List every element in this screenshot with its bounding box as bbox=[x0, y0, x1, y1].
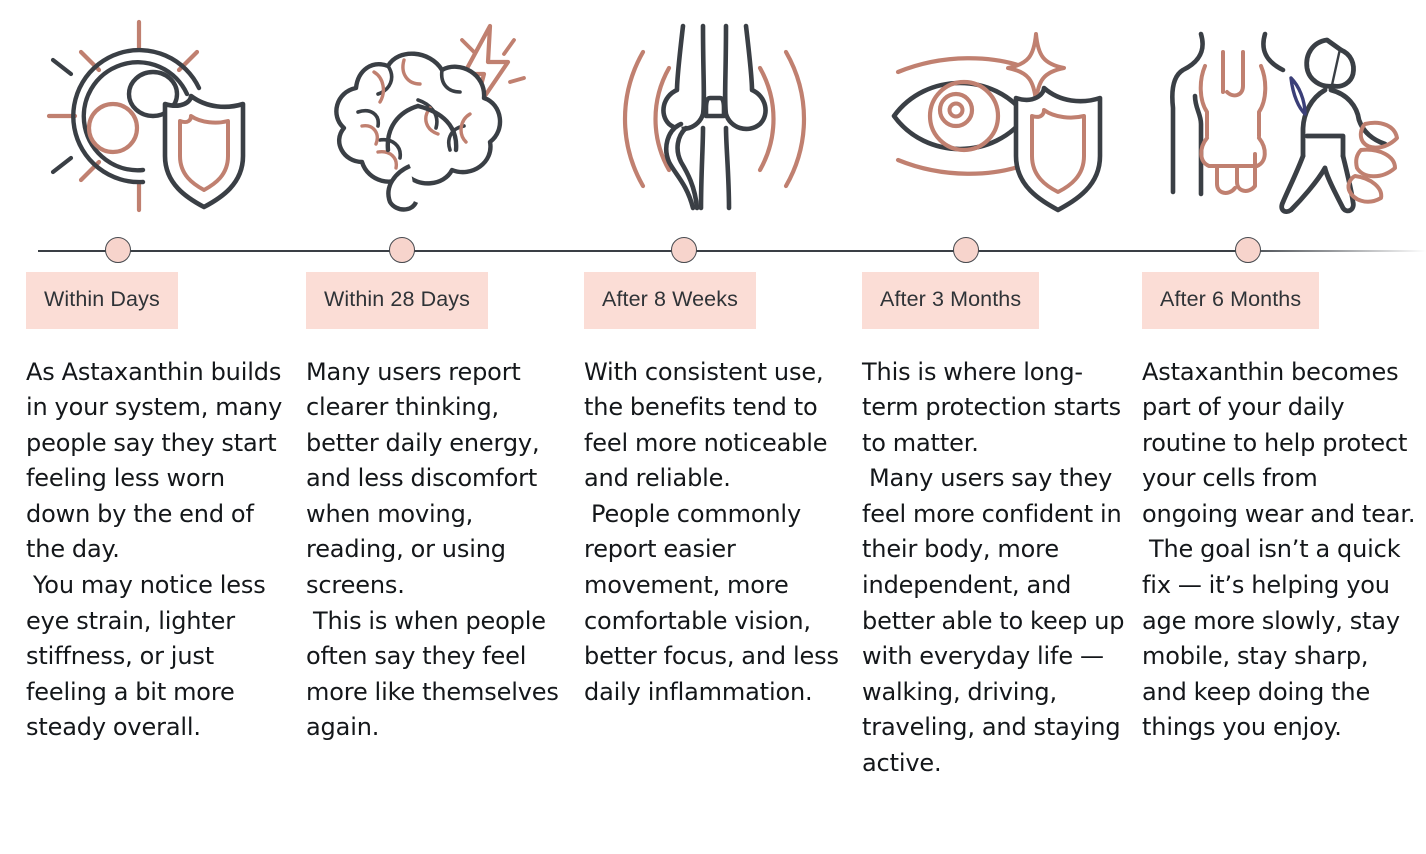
icon-cell-3 bbox=[572, 0, 856, 232]
timeline-line bbox=[38, 250, 1426, 252]
timeline-dot-5[interactable] bbox=[1235, 237, 1261, 263]
milestone-column-2: Within 28 Days Many users report clearer… bbox=[284, 272, 568, 854]
milestone-chip-2: Within 28 Days bbox=[306, 272, 488, 329]
timeline-infographic: Within Days As Astaxanthin builds in you… bbox=[0, 0, 1426, 854]
milestone-body-1: As Astaxanthin builds in your system, ma… bbox=[26, 355, 284, 747]
milestone-chip-1: Within Days bbox=[26, 272, 178, 329]
milestone-column-1: Within Days As Astaxanthin builds in you… bbox=[0, 272, 284, 854]
timeline-dot-2[interactable] bbox=[389, 237, 415, 263]
milestone-column-5: After 6 Months Astaxanthin becomes part … bbox=[1136, 272, 1420, 854]
milestone-chip-4: After 3 Months bbox=[862, 272, 1039, 329]
timeline-dot-3[interactable] bbox=[671, 237, 697, 263]
icon-cell-1 bbox=[4, 0, 288, 232]
eye-shield-icon bbox=[886, 16, 1111, 216]
icon-row bbox=[0, 0, 1426, 232]
milestone-body-4: This is where long-term protection start… bbox=[862, 355, 1136, 782]
milestone-body-3: With consistent use, the benefits tend t… bbox=[584, 355, 852, 711]
body-walking-icon bbox=[1165, 16, 1400, 216]
icon-cell-5 bbox=[1140, 0, 1424, 232]
milestone-column-3: After 8 Weeks With consistent use, the b… bbox=[568, 272, 852, 854]
brain-lightning-icon bbox=[318, 16, 543, 216]
milestone-chip-5: After 6 Months bbox=[1142, 272, 1319, 329]
milestone-columns: Within Days As Astaxanthin builds in you… bbox=[0, 272, 1426, 854]
milestone-chip-3: After 8 Weeks bbox=[584, 272, 756, 329]
milestone-body-5: Astaxanthin becomes part of your daily r… bbox=[1142, 355, 1420, 747]
timeline-dot-4[interactable] bbox=[953, 237, 979, 263]
icon-cell-2 bbox=[288, 0, 572, 232]
knee-joint-icon bbox=[607, 16, 822, 216]
icon-cell-4 bbox=[856, 0, 1140, 232]
timeline-dot-1[interactable] bbox=[105, 237, 131, 263]
timeline-axis bbox=[0, 232, 1426, 272]
milestone-body-2: Many users report clearer thinking, bett… bbox=[306, 355, 568, 747]
milestone-column-4: After 3 Months This is where long-term p… bbox=[852, 272, 1136, 854]
cell-shield-icon bbox=[31, 16, 261, 216]
